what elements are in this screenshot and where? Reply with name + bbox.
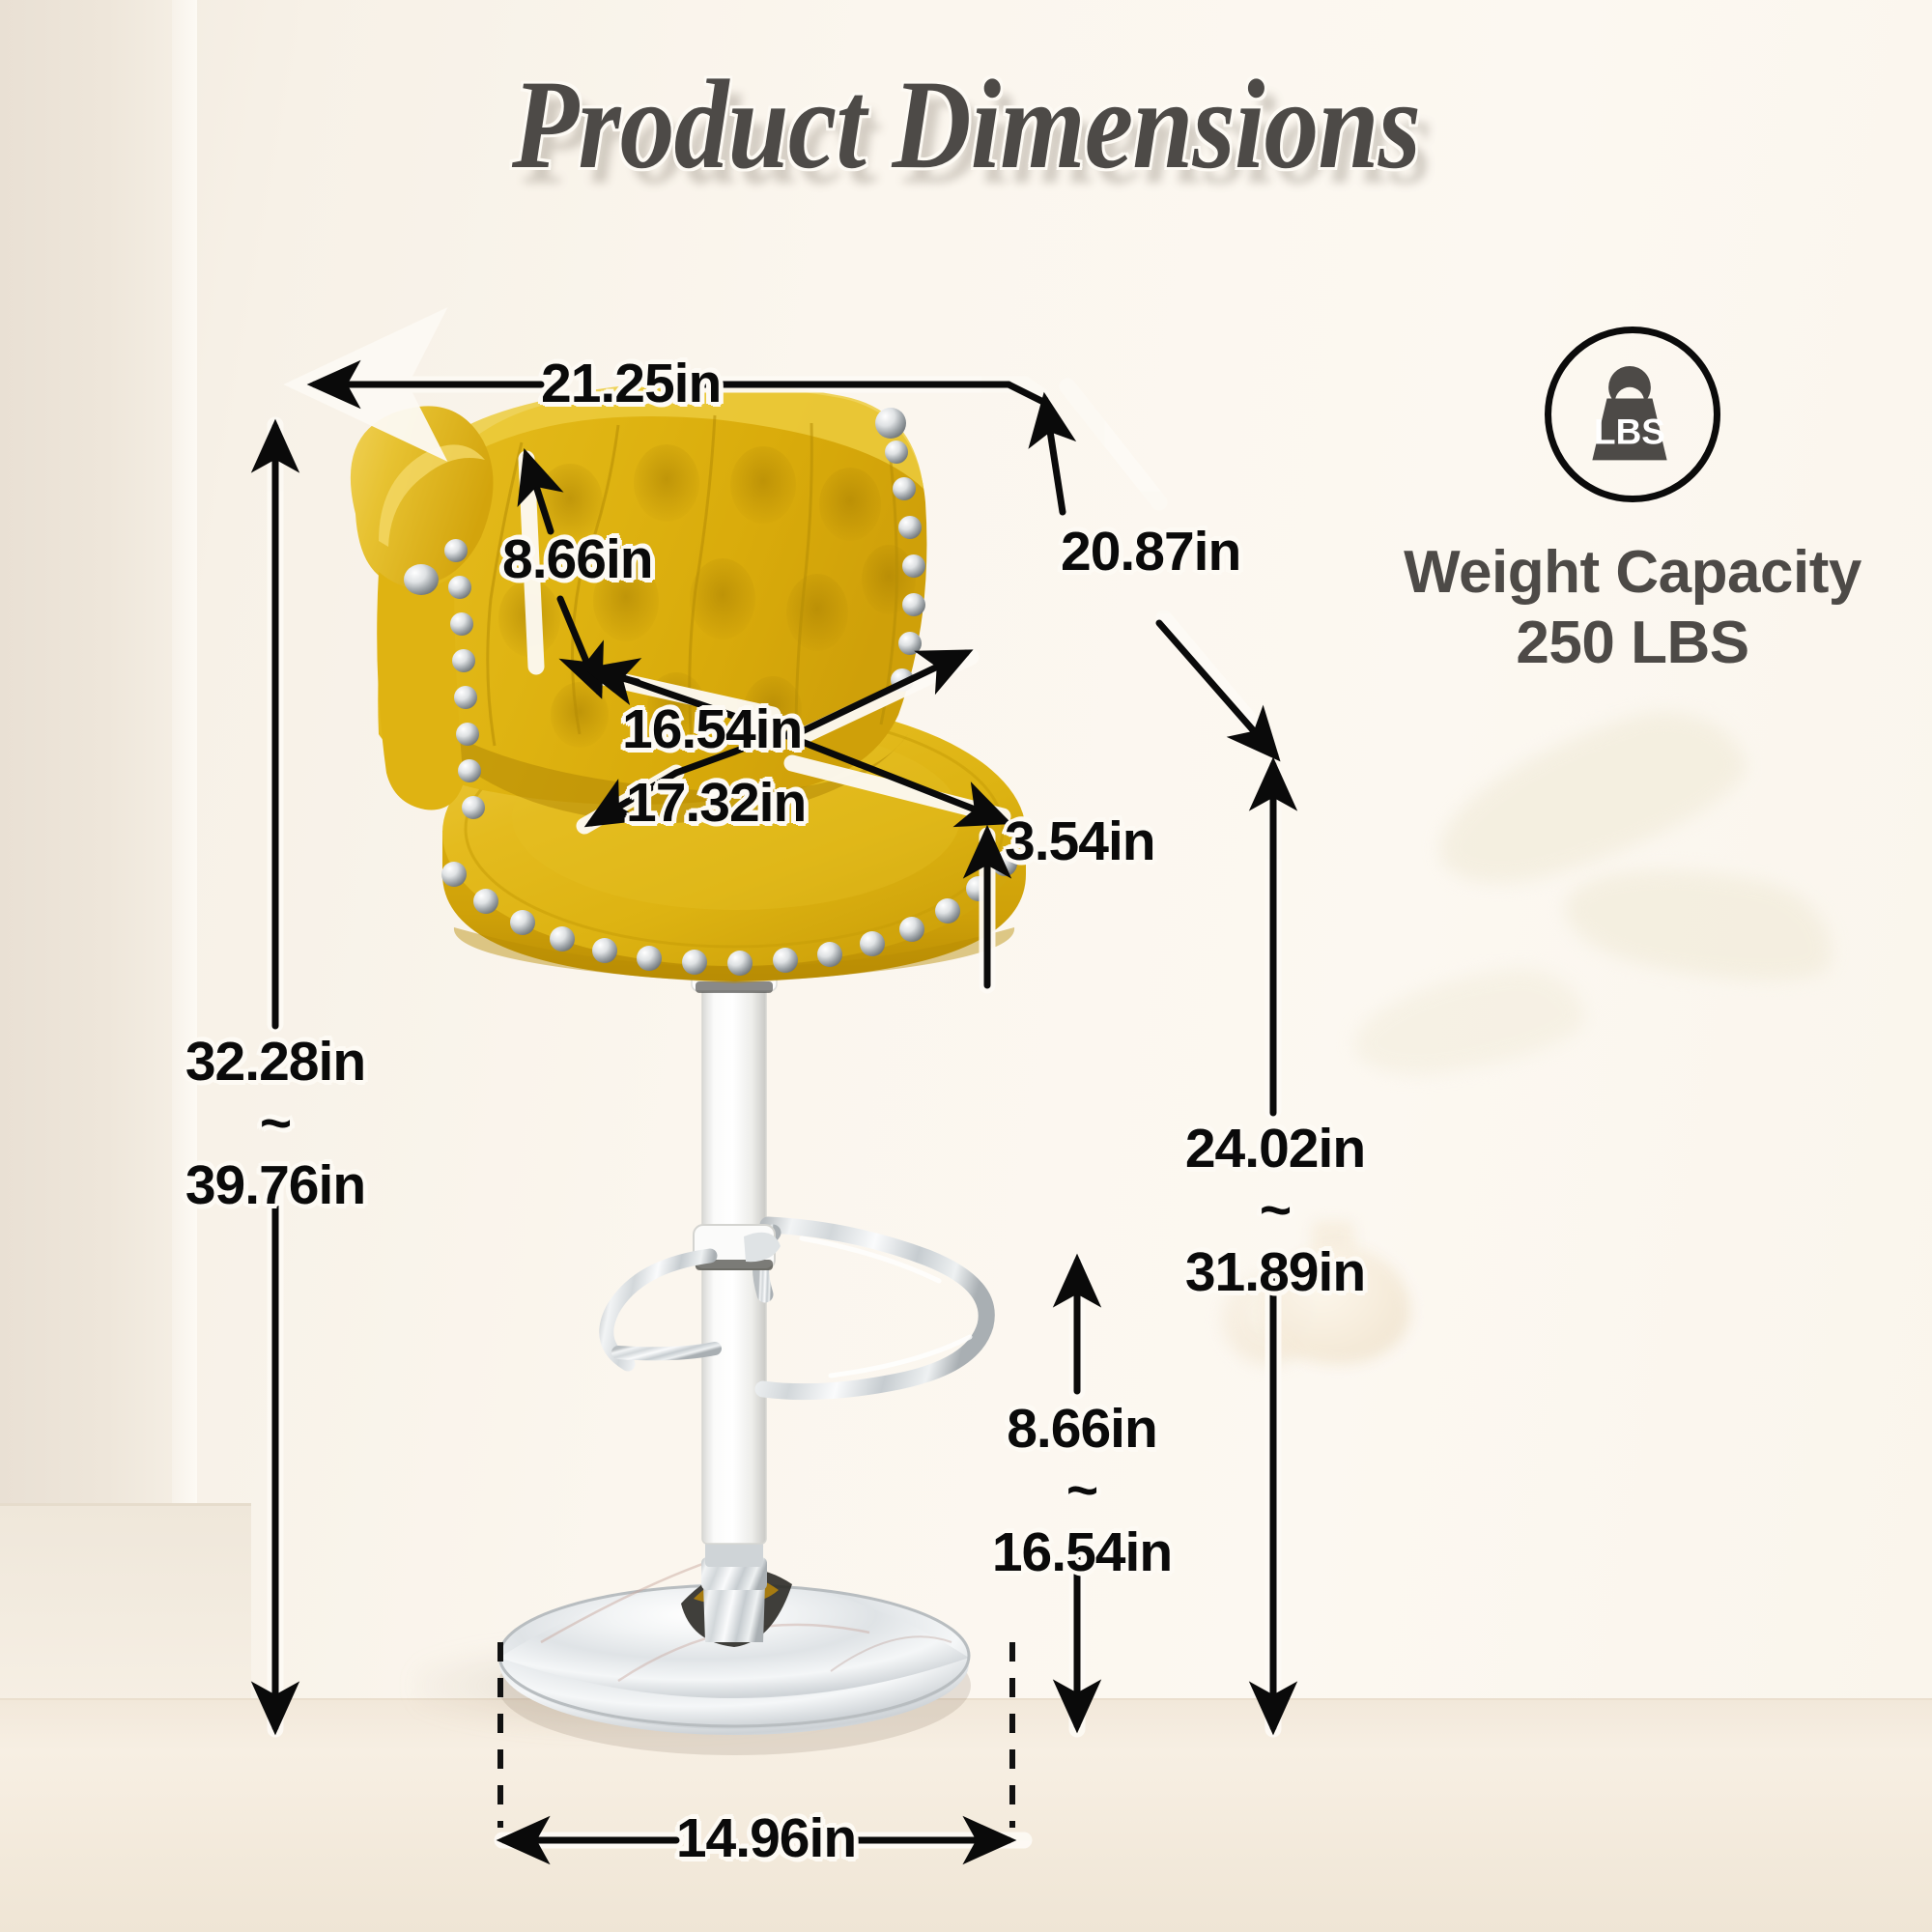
weight-capacity-badge: LBS Weight Capacity 250 LBS [1372, 327, 1893, 678]
background-baseboard [0, 1503, 251, 1706]
dim-label-seat-depth: 16.54in [622, 699, 854, 761]
weight-capacity-line1: Weight Capacity [1372, 537, 1893, 608]
dim-label-base-diameter: 14.96in [674, 1808, 858, 1870]
dim-label-seat-height: 24.02in ~ 31.89in [1140, 1119, 1410, 1303]
dim-label-backrest-height: 8.66in [502, 529, 715, 591]
product-dimensions-infographic: Product Dimensions 21.25in 8.66in 20.87i… [0, 0, 1932, 1932]
weight-lbs-icon: LBS [1548, 330, 1711, 493]
page-title: Product Dimensions [135, 50, 1797, 198]
weight-capacity-text: Weight Capacity 250 LBS [1372, 537, 1893, 678]
dim-label-overall-width: 21.25in [541, 354, 686, 415]
dim-label-seat-thickness: 3.54in [1005, 811, 1188, 873]
svg-text:LBS: LBS [1594, 412, 1665, 452]
background-wall-edge [0, 0, 193, 1546]
dim-label-overall-height: 32.28in ~ 39.76in [140, 1032, 411, 1216]
background-wall-highlight [172, 0, 197, 1507]
weight-capacity-line2: 250 LBS [1372, 608, 1893, 678]
background-floor [0, 1700, 1932, 1932]
dim-label-seat-width: 17.32in [626, 773, 858, 835]
chair-floor-shadow [415, 1642, 860, 1729]
dim-label-overall-depth: 20.87in [1061, 522, 1283, 583]
weight-badge-circle: LBS [1545, 327, 1720, 502]
dim-label-footrest-height: 8.66in ~ 16.54in [956, 1399, 1207, 1583]
